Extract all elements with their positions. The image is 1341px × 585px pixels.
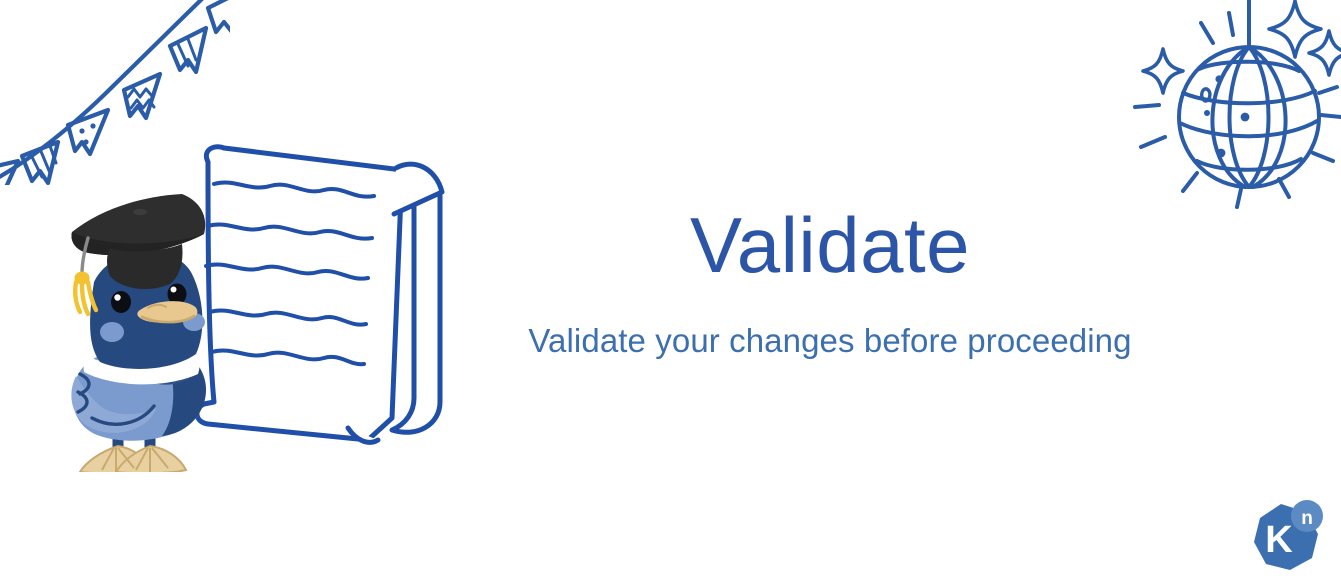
logo-letter-n: n [1301, 508, 1313, 529]
scroll-certificate-icon [178, 140, 468, 460]
slide-canvas: Validate Validate your changes before pr… [0, 0, 1341, 585]
scroll-certificate-decoration [178, 140, 468, 460]
bunting-flags-decoration [0, 0, 230, 185]
page-title: Validate [470, 205, 1190, 287]
kn-logo-icon[interactable]: K n [1246, 498, 1328, 578]
kn-logo[interactable]: K n [1246, 498, 1328, 578]
disco-ball-icon [1125, 0, 1341, 225]
bunting-flags-icon [0, 0, 230, 185]
graduate-bird-icon [58, 190, 230, 472]
page-subtitle: Validate your changes before proceeding [470, 321, 1190, 361]
disco-ball-decoration [1125, 0, 1341, 225]
logo-letter-k: K [1265, 519, 1293, 561]
graduate-bird-mascot [58, 190, 230, 472]
slide-text-block: Validate Validate your changes before pr… [470, 205, 1190, 360]
